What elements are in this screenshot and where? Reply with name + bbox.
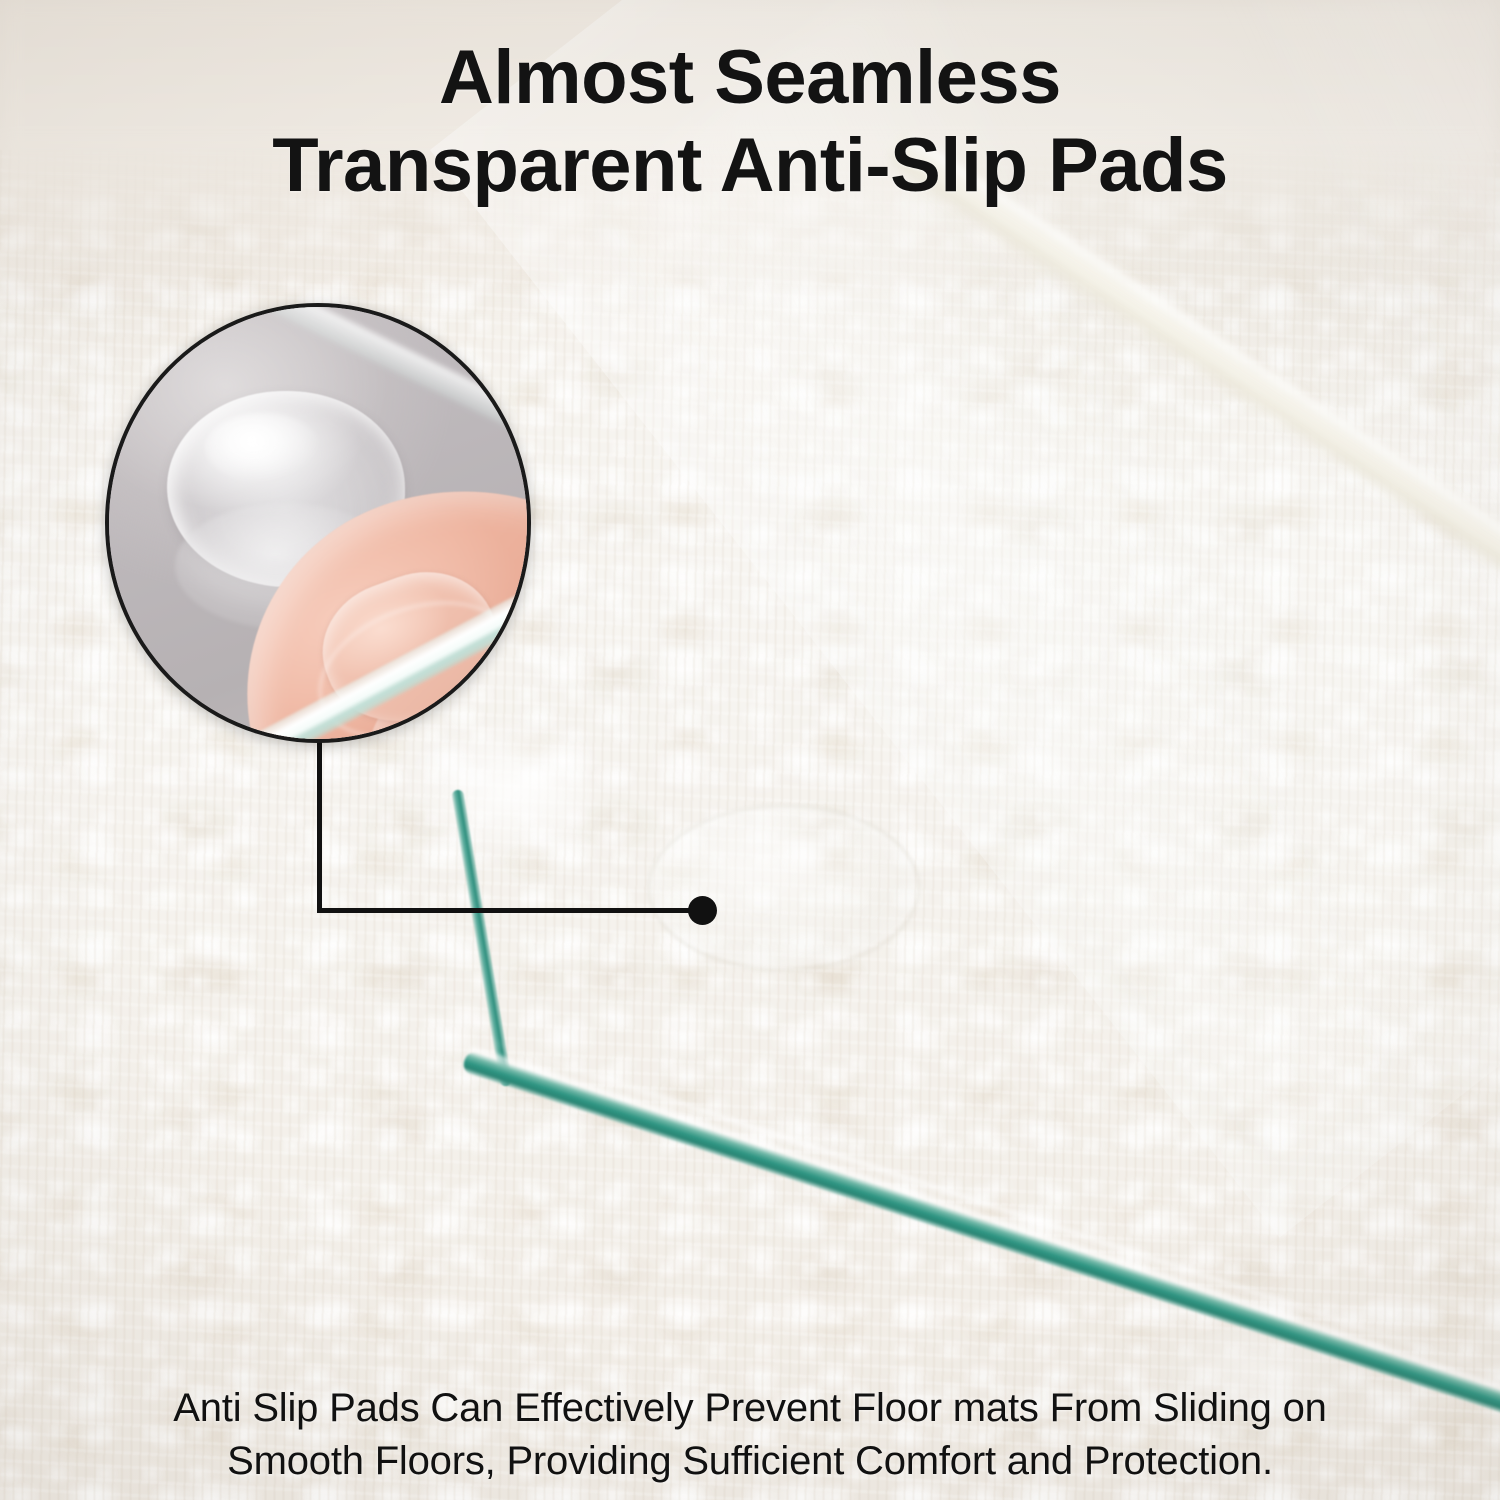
callout-pad-highlight bbox=[205, 413, 321, 483]
leader-endpoint-dot bbox=[688, 896, 717, 925]
page-title: Almost Seamless Transparent Anti-Slip Pa… bbox=[0, 34, 1500, 210]
product-image-canvas: Almost Seamless Transparent Anti-Slip Pa… bbox=[0, 0, 1500, 1500]
vignette bbox=[0, 0, 1500, 1500]
magnified-detail-circle bbox=[105, 303, 531, 743]
leader-line-vertical bbox=[317, 731, 322, 913]
caption-text: Anti Slip Pads Can Effectively Prevent F… bbox=[30, 1382, 1470, 1488]
leader-line-horizontal bbox=[317, 908, 705, 913]
